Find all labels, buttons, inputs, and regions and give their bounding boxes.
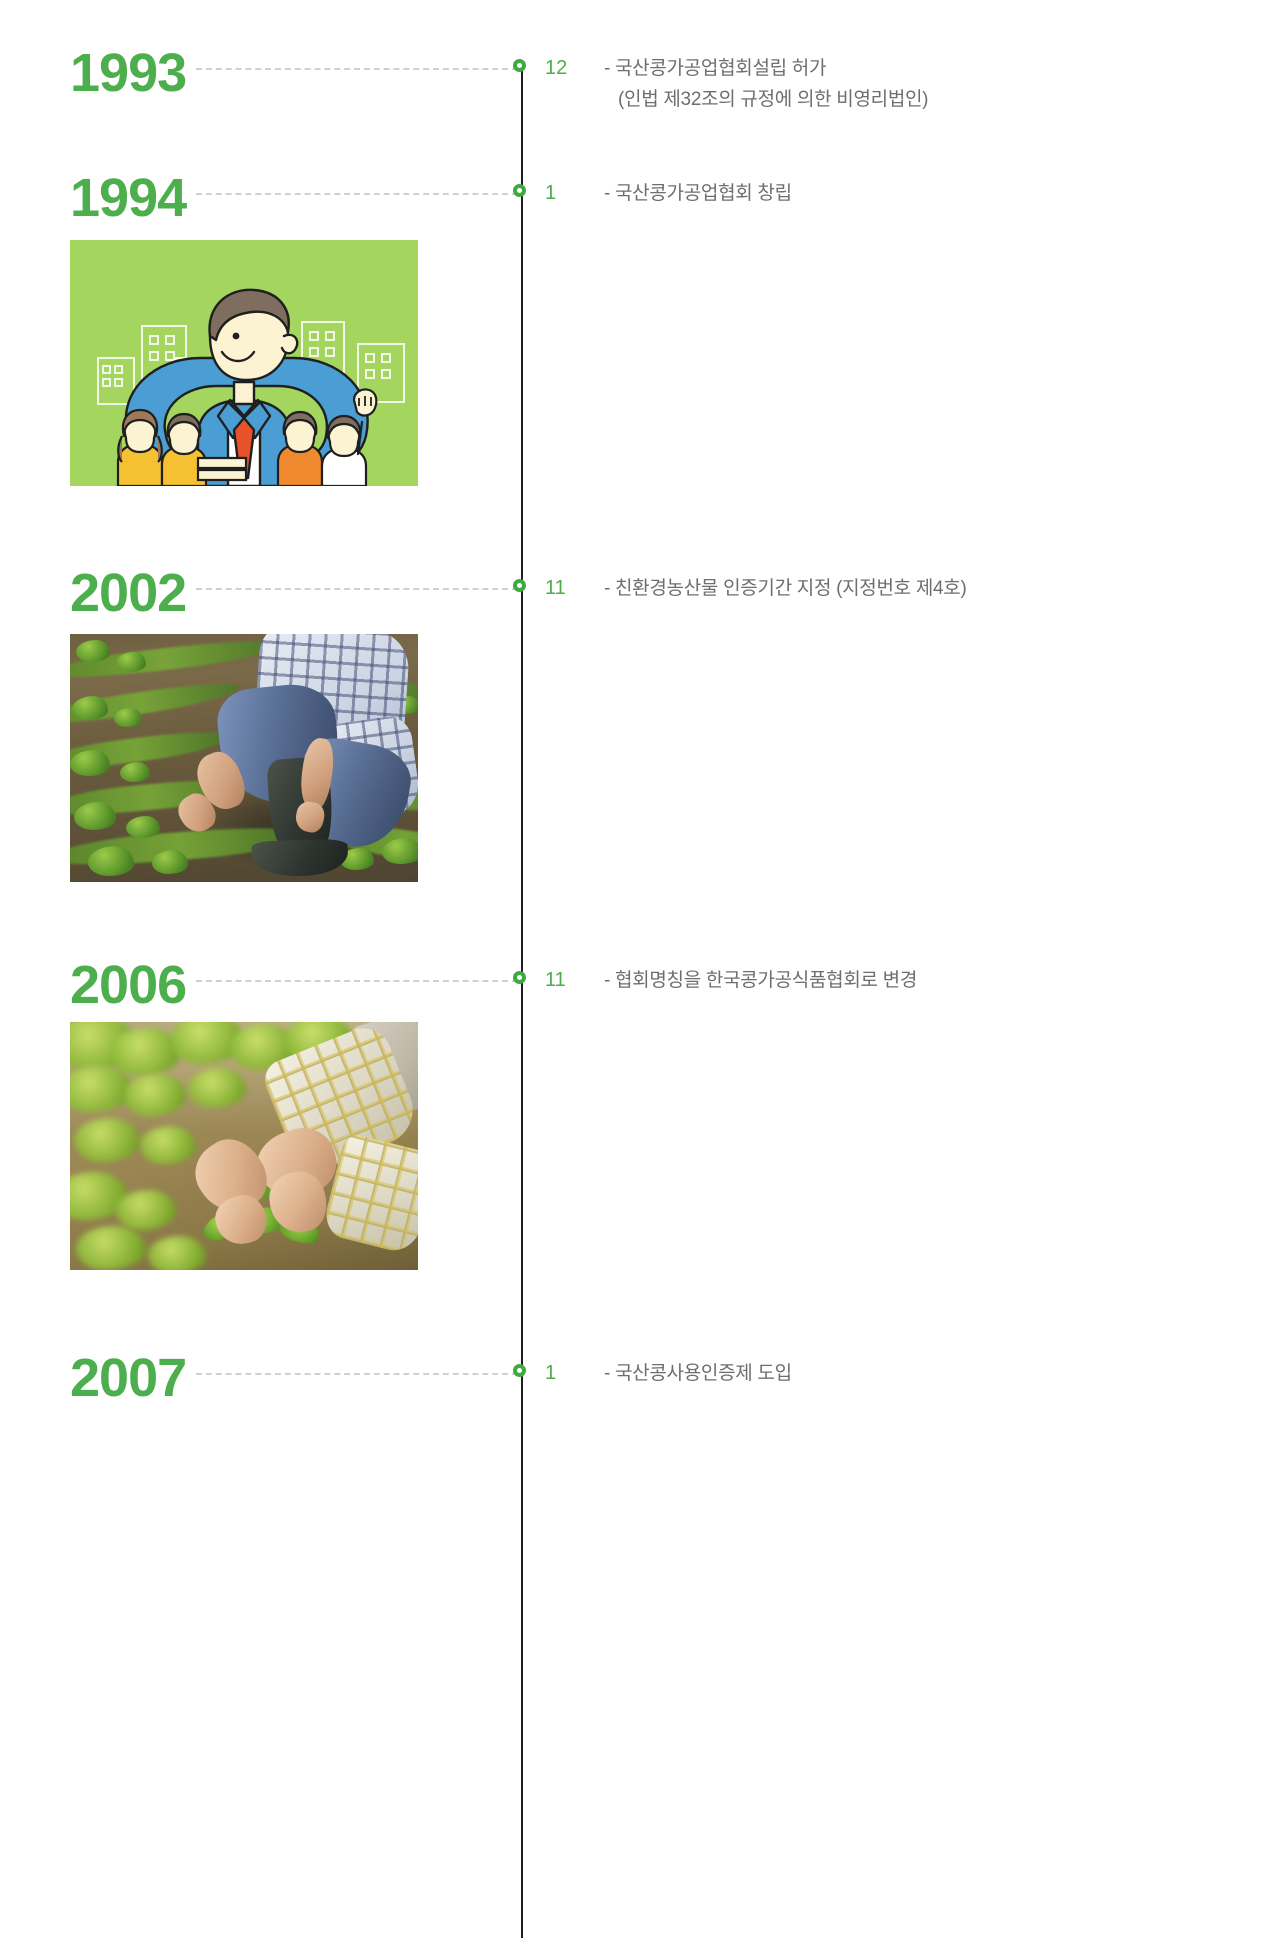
- year-label-1993: 1993: [70, 46, 250, 100]
- year-label-2006: 2006: [70, 958, 250, 1012]
- timeline-row-2007: 2007 1 - 국산콩사용인증제 도입: [0, 1373, 1268, 1413]
- dash-connector-2007: [196, 1373, 518, 1376]
- timeline-row-1994: 1994 1 - 국산콩가공업협회 창립: [0, 193, 1268, 233]
- year-label-2007: 2007: [70, 1351, 250, 1405]
- soybean-seedling-hands-photo: [70, 1022, 418, 1270]
- description-2006: - 협회명칭을 한국콩가공식품협회로 변경: [604, 965, 1224, 996]
- month-label-2006: 11: [545, 967, 589, 993]
- description-1993: - 국산콩가공업협회설립 허가 (인법 제32조의 규정에 의한 비영리법인): [604, 53, 1224, 115]
- description-line: - 협회명칭을 한국콩가공식품협회로 변경: [604, 970, 917, 991]
- month-label-2002: 11: [545, 575, 589, 601]
- description-1994: - 국산콩가공업협회 창립: [604, 178, 1224, 209]
- description-line: - 친환경농산물 인증기간 지정 (지정번호 제4호): [604, 578, 966, 599]
- timeline-dot-1994: [513, 184, 526, 197]
- month-label-1994: 1: [545, 180, 589, 206]
- timeline-page: 1993 12 - 국산콩가공업협회설립 허가 (인법 제32조의 규정에 의한…: [0, 0, 1268, 1959]
- year-label-2002: 2002: [70, 566, 250, 620]
- dash-connector-1994: [196, 193, 518, 196]
- timeline-dot-2002: [513, 579, 526, 592]
- timeline-dot-2007: [513, 1364, 526, 1377]
- month-label-2007: 1: [545, 1360, 589, 1386]
- dash-connector-2006: [196, 980, 518, 983]
- year-label-1994: 1994: [70, 171, 250, 225]
- description-line: (인법 제32조의 규정에 의한 비영리법인): [604, 84, 1224, 115]
- description-line: - 국산콩가공업협회설립 허가: [604, 58, 826, 79]
- dash-connector-1993: [196, 68, 518, 71]
- description-line: - 국산콩사용인증제 도입: [604, 1363, 792, 1384]
- dash-connector-2002: [196, 588, 518, 591]
- soybean-field-farmer-photo: [70, 634, 418, 882]
- timeline-row-2002: 2002 11 - 친환경농산물 인증기간 지정 (지정번호 제4호): [0, 588, 1268, 628]
- timeline-row-2006: 2006 11 - 협회명칭을 한국콩가공식품협회로 변경: [0, 980, 1268, 1020]
- founding-illustration-svg: [70, 240, 418, 486]
- description-line: - 국산콩가공업협회 창립: [604, 183, 792, 204]
- description-2007: - 국산콩사용인증제 도입: [604, 1358, 1224, 1389]
- timeline-row-1993: 1993 12 - 국산콩가공업협회설립 허가 (인법 제32조의 규정에 의한…: [0, 68, 1268, 108]
- association-founding-illustration: [70, 240, 418, 486]
- timeline-dot-1993: [513, 59, 526, 72]
- description-2002: - 친환경농산물 인증기간 지정 (지정번호 제4호): [604, 573, 1224, 604]
- month-label-1993: 12: [545, 55, 589, 81]
- timeline-dot-2006: [513, 971, 526, 984]
